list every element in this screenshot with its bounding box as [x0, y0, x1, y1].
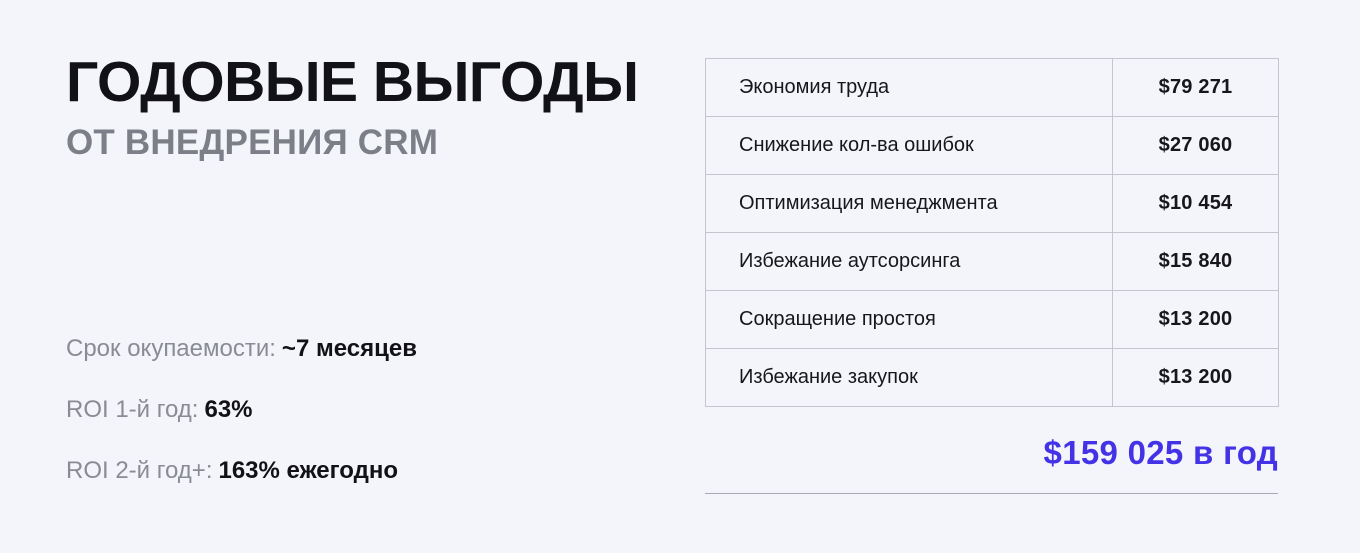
benefits-table: Экономия труда $79 271 Снижение кол-ва о…	[705, 58, 1279, 407]
benefit-value-cell: $10 454	[1113, 175, 1279, 233]
benefit-value-cell: $13 200	[1113, 349, 1279, 407]
table-row: Избежание аутсорсинга $15 840	[706, 233, 1279, 291]
table-row: Сокращение простоя $13 200	[706, 291, 1279, 349]
page-title: ГОДОВЫЕ ВЫГОДЫ	[66, 52, 666, 112]
left-column: ГОДОВЫЕ ВЫГОДЫ ОТ ВНЕДРЕНИЯ CRM Срок оку…	[66, 0, 666, 553]
benefit-label-cell: Избежание закупок	[706, 349, 1113, 407]
metric-payback-period: Срок окупаемости:~7 месяцев	[66, 334, 626, 364]
metric-value: 163% ежегодно	[218, 457, 398, 484]
metric-label: Срок окупаемости:	[66, 335, 276, 362]
benefit-label-cell: Избежание аутсорсинга	[706, 233, 1113, 291]
benefit-value-cell: $13 200	[1113, 291, 1279, 349]
benefit-label-cell: Снижение кол-ва ошибок	[706, 117, 1113, 175]
page-subtitle: ОТ ВНЕДРЕНИЯ CRM	[66, 112, 666, 163]
metric-label: ROI 1-й год:	[66, 396, 198, 423]
metric-value: ~7 месяцев	[282, 335, 417, 362]
benefits-table-body: Экономия труда $79 271 Снижение кол-ва о…	[706, 59, 1279, 407]
metric-label: ROI 2-й год+:	[66, 457, 212, 484]
table-row: Избежание закупок $13 200	[706, 349, 1279, 407]
benefit-label-cell: Оптимизация менеджмента	[706, 175, 1113, 233]
benefit-label-cell: Экономия труда	[706, 59, 1113, 117]
benefit-value-cell: $15 840	[1113, 233, 1279, 291]
right-column: Экономия труда $79 271 Снижение кол-ва о…	[705, 58, 1278, 407]
bottom-divider	[705, 493, 1278, 494]
benefit-value-cell: $27 060	[1113, 117, 1279, 175]
benefit-label-cell: Сокращение простоя	[706, 291, 1113, 349]
benefit-value-cell: $79 271	[1113, 59, 1279, 117]
table-row: Снижение кол-ва ошибок $27 060	[706, 117, 1279, 175]
metric-roi-year-2-plus: ROI 2-й год+:163% ежегодно	[66, 456, 626, 486]
total-annual-benefit: $159 025 в год	[705, 432, 1278, 474]
table-row: Экономия труда $79 271	[706, 59, 1279, 117]
metrics-list: Срок окупаемости:~7 месяцев ROI 1-й год:…	[66, 334, 626, 486]
metric-roi-year-1: ROI 1-й год:63%	[66, 395, 626, 425]
title-block: ГОДОВЫЕ ВЫГОДЫ ОТ ВНЕДРЕНИЯ CRM	[66, 52, 666, 163]
slide-root: ГОДОВЫЕ ВЫГОДЫ ОТ ВНЕДРЕНИЯ CRM Срок оку…	[0, 0, 1360, 553]
table-row: Оптимизация менеджмента $10 454	[706, 175, 1279, 233]
metric-value: 63%	[204, 396, 252, 423]
